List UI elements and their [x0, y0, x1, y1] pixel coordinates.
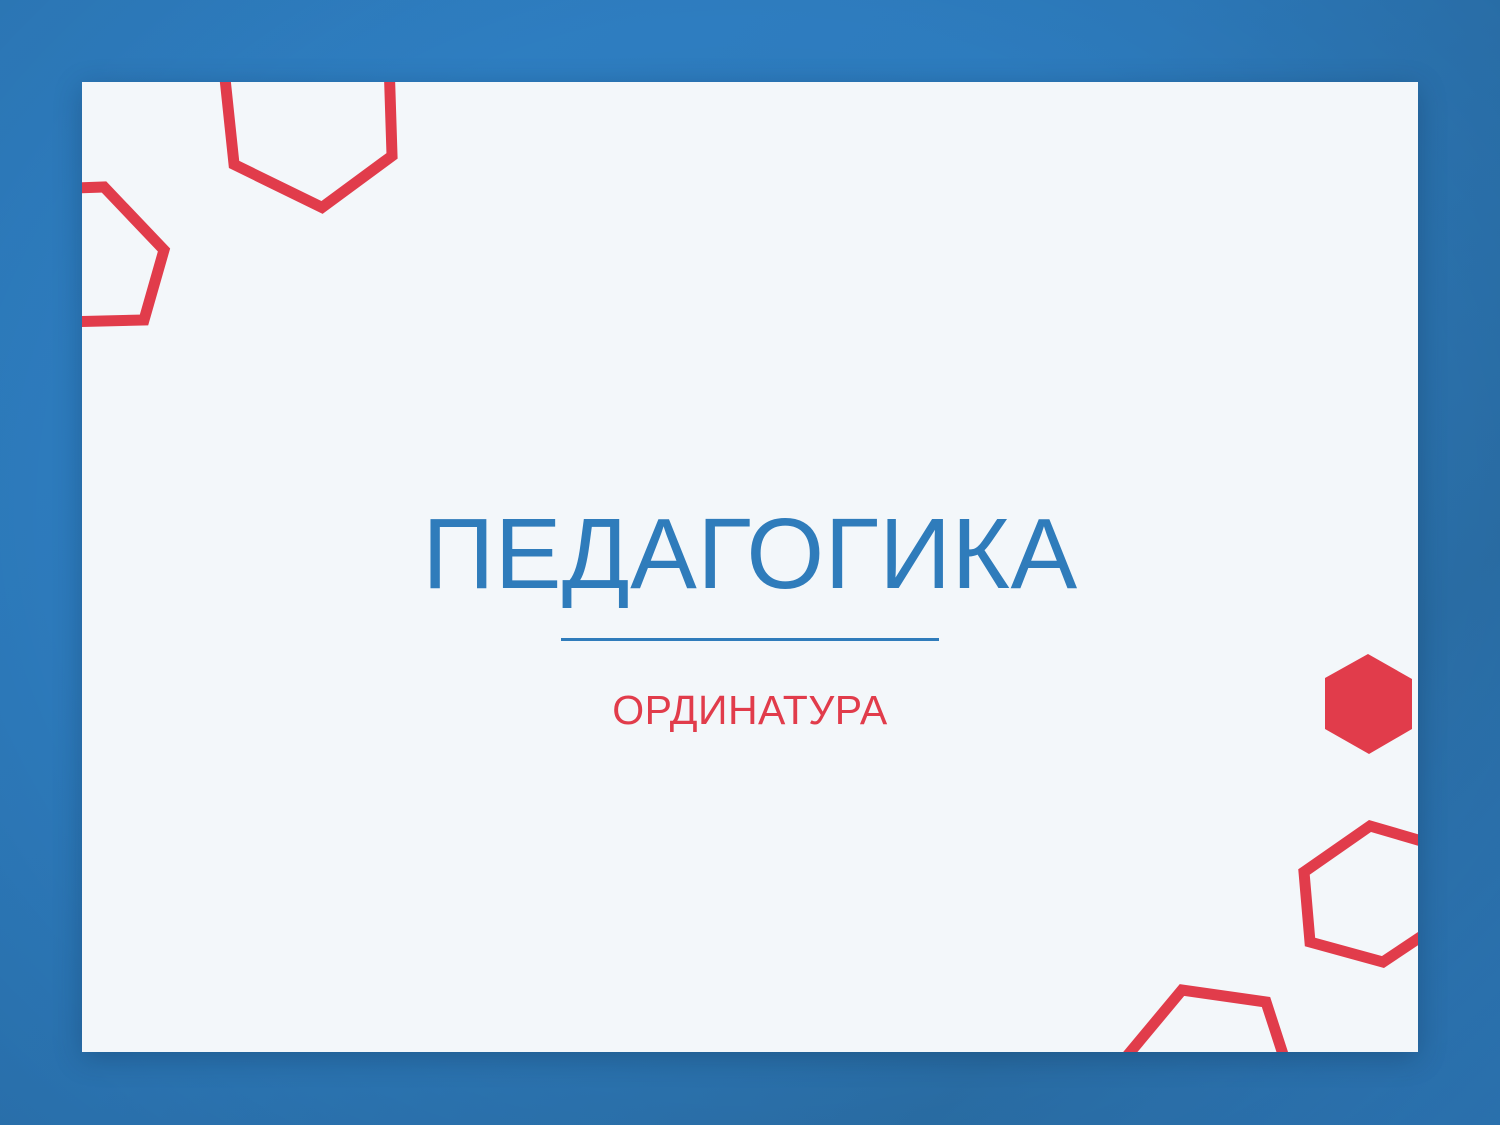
- page-subtitle: ОРДИНАТУРА: [612, 687, 888, 734]
- slide-card: ПЕДАГОГИКА ОРДИНАТУРА: [82, 82, 1418, 1052]
- title-block: ПЕДАГОГИКА ОРДИНАТУРА: [422, 500, 1077, 734]
- presentation-slide: ПЕДАГОГИКА ОРДИНАТУРА: [0, 0, 1500, 1125]
- title-divider: [561, 638, 939, 641]
- slide-content: ПЕДАГОГИКА ОРДИНАТУРА: [82, 82, 1418, 1052]
- page-title: ПЕДАГОГИКА: [422, 500, 1077, 608]
